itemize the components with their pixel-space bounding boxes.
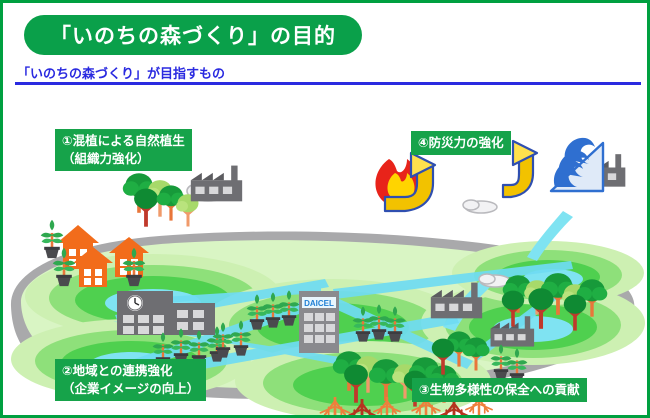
building-logo-text: DAICEL xyxy=(304,299,334,308)
slide-root: 「いのちの森づくり」の目的 「いのちの森づくり」が目指すもの xyxy=(0,0,650,418)
office-building-icon: DAICEL xyxy=(299,291,339,353)
callout-1: ①混植による自然植生 （組織力強化） xyxy=(55,129,192,171)
page-title: 「いのちの森づくり」の目的 xyxy=(24,15,362,55)
subtitle-underline xyxy=(15,82,641,85)
page-subtitle: 「いのちの森づくり」が目指すもの xyxy=(17,63,225,82)
callout-4: ④防災力の強化 xyxy=(411,131,511,155)
cloud-icon-3 xyxy=(463,200,497,213)
callout-2: ②地域との連携強化 （企業イメージの向上） xyxy=(55,359,206,401)
callout-3: ③生物多様性の保全への貢献 xyxy=(412,378,587,402)
